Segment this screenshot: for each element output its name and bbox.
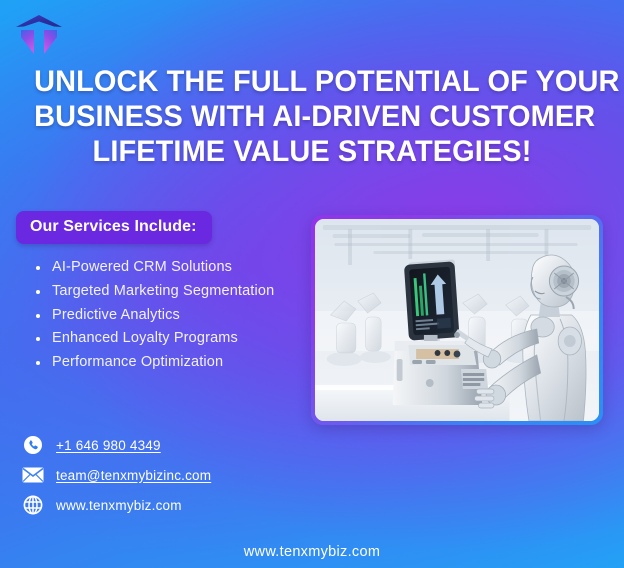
list-item: Performance Optimization: [30, 351, 320, 375]
email-address[interactable]: team@tenxmybizinc.com: [56, 468, 211, 483]
robot-at-workstation-photo: [315, 219, 599, 421]
contact-email-row[interactable]: team@tenxmybizinc.com: [22, 460, 211, 490]
list-item-label: Performance Optimization: [52, 354, 223, 370]
robot-photo: [315, 219, 599, 421]
envelope-icon: [22, 464, 44, 486]
phone-number[interactable]: +1 646 980 4349: [56, 438, 161, 453]
brand-logo: [13, 9, 65, 61]
list-item: AI-Powered CRM Solutions: [30, 256, 320, 280]
contact-info: +1 646 980 4349 team@tenxmybizinc.com: [22, 430, 211, 520]
headline-line-3: LIFETIME VALUE STRATEGIES!: [34, 134, 590, 169]
bullet-dot-icon: [36, 314, 40, 318]
contact-phone-row[interactable]: +1 646 980 4349: [22, 430, 211, 460]
services-list: AI-Powered CRM Solutions Targeted Market…: [30, 256, 320, 375]
list-item: Predictive Analytics: [30, 304, 320, 328]
list-item-label: Predictive Analytics: [52, 307, 180, 323]
bullet-dot-icon: [36, 337, 40, 341]
marketing-poster: UNLOCK THE FULL POTENTIAL OF YOUR BUSINE…: [0, 0, 624, 568]
list-item-label: Enhanced Loyalty Programs: [52, 330, 238, 346]
phone-icon: [22, 434, 44, 456]
list-item: Enhanced Loyalty Programs: [30, 327, 320, 351]
bullet-dot-icon: [36, 290, 40, 294]
list-item-label: Targeted Marketing Segmentation: [52, 283, 274, 299]
list-item: Targeted Marketing Segmentation: [30, 280, 320, 304]
globe-icon: [22, 494, 44, 516]
photo-frame: [311, 215, 603, 425]
list-item-label: AI-Powered CRM Solutions: [52, 259, 232, 275]
headline-line-1: UNLOCK THE FULL POTENTIAL OF YOUR: [34, 64, 590, 99]
services-badge: Our Services Include:: [16, 211, 212, 244]
bullet-dot-icon: [36, 361, 40, 365]
bullet-dot-icon: [36, 266, 40, 270]
footer-website: www.tenxmybiz.com: [0, 544, 624, 560]
contact-website-row[interactable]: www.tenxmybiz.com: [22, 490, 211, 520]
tenx-t-logo-icon: [13, 9, 65, 61]
headline: UNLOCK THE FULL POTENTIAL OF YOUR BUSINE…: [34, 64, 590, 169]
headline-line-2: BUSINESS WITH AI-DRIVEN CUSTOMER: [34, 99, 590, 134]
website-url[interactable]: www.tenxmybiz.com: [56, 498, 182, 513]
